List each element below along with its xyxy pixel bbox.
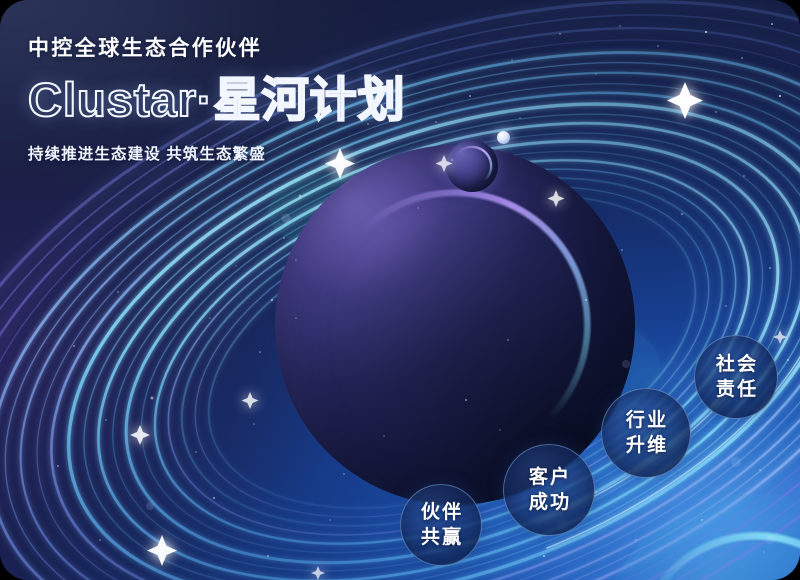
badge-customer-success[interactable]: 客户 成功 [503, 444, 595, 536]
badge-label-line1: 伙伴 [419, 500, 464, 525]
badge-social-responsibility[interactable]: 社会 责任 [694, 335, 778, 419]
badge-label-line2: 共赢 [419, 525, 464, 550]
page-title: Clustar·星河计划 [28, 71, 406, 128]
tagline-text: 持续推进生态建设 共筑生态繁盛 [28, 142, 406, 164]
badge-label-line1: 行业 [624, 408, 669, 433]
badge-label-line1: 社会 [714, 352, 759, 377]
badge-label-line2: 成功 [527, 490, 572, 515]
badge-label-line1: 客户 [527, 465, 572, 490]
badge-label-line2: 升维 [624, 433, 669, 458]
promo-banner: 中控全球生态合作伙伴 Clustar·星河计划 持续推进生态建设 共筑生态繁盛 … [0, 0, 800, 580]
headline-block: 中控全球生态合作伙伴 Clustar·星河计划 持续推进生态建设 共筑生态繁盛 [28, 36, 406, 164]
badge-label-line2: 责任 [714, 377, 759, 402]
eyebrow-text: 中控全球生态合作伙伴 [28, 36, 406, 61]
badge-industry-upgrade[interactable]: 行业 升维 [601, 388, 691, 478]
badge-partner-win-win[interactable]: 伙伴 共赢 [400, 484, 482, 566]
